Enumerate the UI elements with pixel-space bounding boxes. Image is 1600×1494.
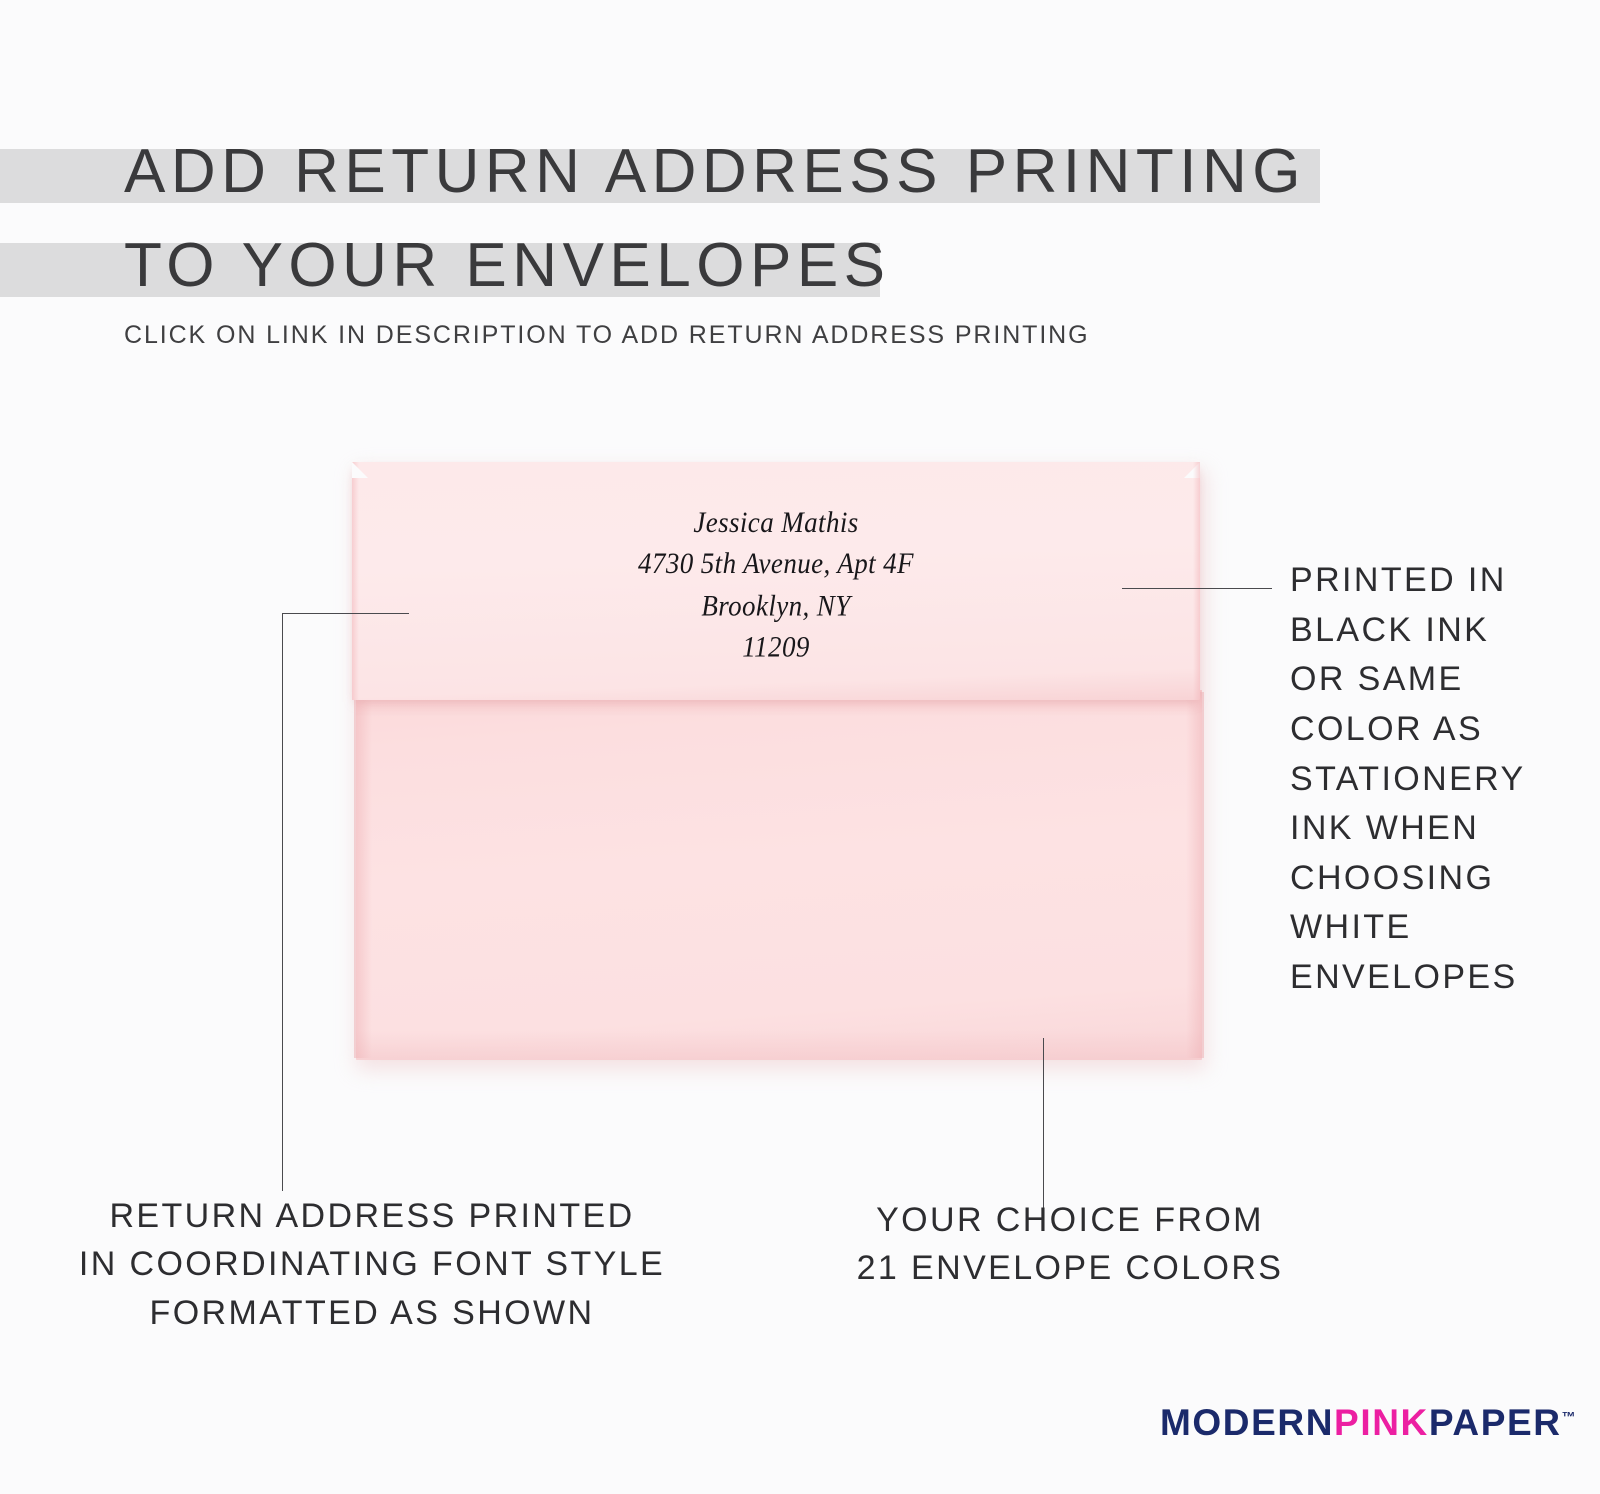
return-address-street: 4730 5th Avenue, Apt 4F <box>352 543 1200 584</box>
return-address-city-state: Brooklyn, NY <box>352 585 1200 626</box>
callout-right-line-7: CHOOSING <box>1290 854 1590 904</box>
brand-logo: MODERNPINKPAPER™ <box>1160 1404 1576 1441</box>
callout-right-line-4: COLOR AS <box>1290 705 1590 755</box>
logo-part-pink: PINK <box>1334 1402 1429 1443</box>
leader-line-left-horizontal <box>282 613 409 614</box>
callout-right-line-6: INK WHEN <box>1290 804 1590 854</box>
return-address-name: Jessica Mathis <box>352 502 1200 543</box>
envelope-body <box>356 690 1202 1060</box>
callout-printed-ink: PRINTED IN BLACK INK OR SAME COLOR AS ST… <box>1290 556 1590 1003</box>
callout-bottom-center-line-2: 21 ENVELOPE COLORS <box>850 1244 1290 1292</box>
callout-right-line-3: OR SAME <box>1290 655 1590 705</box>
page-subtitle: CLICK ON LINK IN DESCRIPTION TO ADD RETU… <box>124 323 1089 348</box>
flap-corner-right <box>1184 462 1200 478</box>
callout-right-line-1: PRINTED IN <box>1290 556 1590 606</box>
callout-right-line-9: ENVELOPES <box>1290 953 1590 1003</box>
page-title-line-2: TO YOUR ENVELOPES <box>124 235 891 297</box>
callout-bottom-left-line-2: IN COORDINATING FONT STYLE <box>62 1240 682 1288</box>
trademark-symbol: ™ <box>1562 1409 1576 1425</box>
leader-line-left-vertical <box>282 613 283 1191</box>
leader-line-right <box>1122 588 1272 589</box>
logo-part-paper: PAPER <box>1429 1402 1562 1443</box>
callout-envelope-colors: YOUR CHOICE FROM 21 ENVELOPE COLORS <box>850 1196 1290 1293</box>
return-address-block: Jessica Mathis 4730 5th Avenue, Apt 4F B… <box>352 502 1200 668</box>
callout-bottom-center-line-1: YOUR CHOICE FROM <box>850 1196 1290 1244</box>
callout-bottom-left-line-3: FORMATTED AS SHOWN <box>62 1289 682 1337</box>
callout-bottom-left-line-1: RETURN ADDRESS PRINTED <box>62 1192 682 1240</box>
return-address-zip: 11209 <box>352 626 1200 667</box>
envelope-mockup: Jessica Mathis 4730 5th Avenue, Apt 4F B… <box>352 462 1206 1074</box>
envelope-flap: Jessica Mathis 4730 5th Avenue, Apt 4F B… <box>352 462 1200 700</box>
callout-right-line-8: WHITE <box>1290 903 1590 953</box>
callout-right-line-2: BLACK INK <box>1290 606 1590 656</box>
callout-right-line-5: STATIONERY <box>1290 755 1590 805</box>
logo-part-modern: MODERN <box>1160 1402 1334 1443</box>
leader-line-center-vertical <box>1043 1038 1044 1213</box>
callout-return-address-font: RETURN ADDRESS PRINTED IN COORDINATING F… <box>62 1192 682 1337</box>
page-title-line-1: ADD RETURN ADDRESS PRINTING <box>124 141 1306 203</box>
flap-corner-left <box>352 462 368 478</box>
